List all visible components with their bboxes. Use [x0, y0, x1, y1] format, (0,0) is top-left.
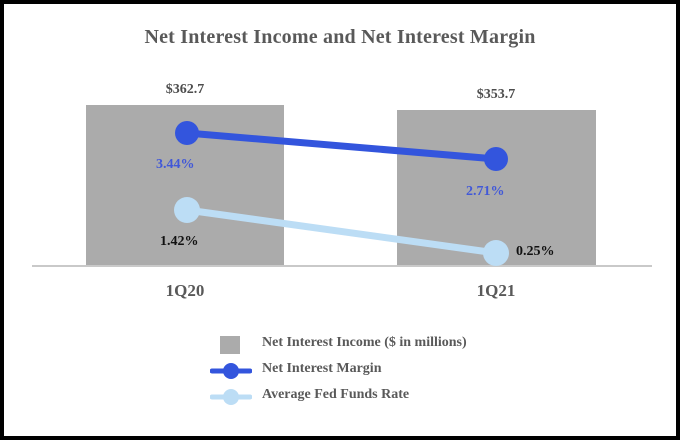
legend-line-dot-icon [210, 358, 252, 384]
legend-item-net-interest-income[interactable]: Net Interest Income ($ in millions) [4, 332, 676, 358]
nim-marker-1q21 [484, 147, 508, 171]
category-label-1q20: 1Q20 [115, 281, 255, 301]
ffr-label-1q21: 0.25% [516, 244, 555, 260]
chart-frame: Net Interest Income and Net Interest Mar… [0, 0, 680, 440]
legend-swatch-icon [220, 336, 240, 354]
chart-canvas: Net Interest Income and Net Interest Mar… [4, 4, 676, 436]
ffr-label-1q20: 1.42% [160, 234, 199, 250]
chart-legend: Net Interest Income ($ in millions) Net … [4, 332, 676, 410]
legend-label: Average Fed Funds Rate [262, 387, 409, 403]
ffr-line [187, 210, 496, 253]
legend-item-average-fed-funds-rate[interactable]: Average Fed Funds Rate [4, 384, 676, 410]
category-label-1q21: 1Q21 [426, 281, 566, 301]
ffr-marker-1q21 [483, 240, 509, 266]
legend-label: Net Interest Margin [262, 361, 382, 377]
legend-line-dot-icon [210, 384, 252, 410]
nim-line [187, 133, 496, 159]
ffr-marker-1q20 [174, 197, 200, 223]
nim-label-1q21: 2.71% [466, 184, 505, 200]
nim-marker-1q20 [175, 121, 199, 145]
nim-label-1q20: 3.44% [156, 157, 195, 173]
legend-label: Net Interest Income ($ in millions) [262, 335, 467, 351]
legend-item-net-interest-margin[interactable]: Net Interest Margin [4, 358, 676, 384]
